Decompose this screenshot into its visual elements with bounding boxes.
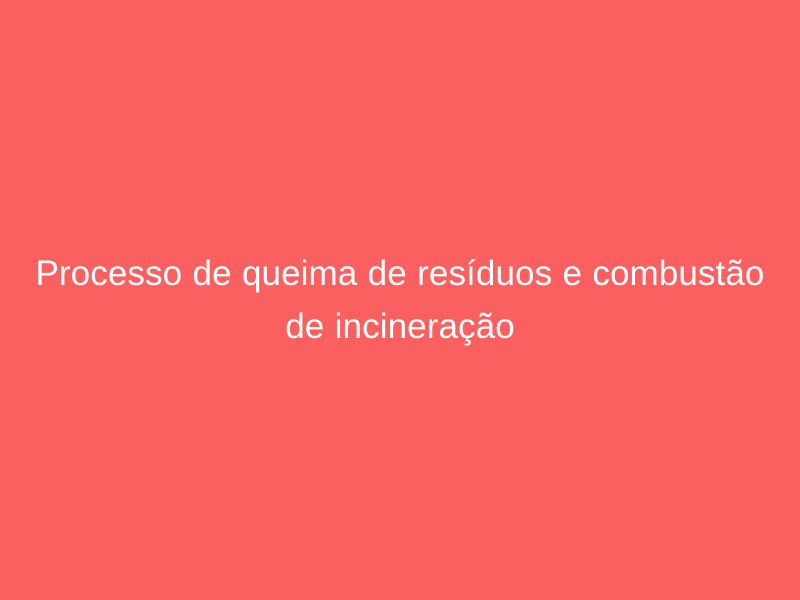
placeholder-canvas: Processo de queima de resíduos e combust…	[0, 0, 800, 600]
placeholder-caption-text: Processo de queima de resíduos e combust…	[34, 247, 766, 353]
